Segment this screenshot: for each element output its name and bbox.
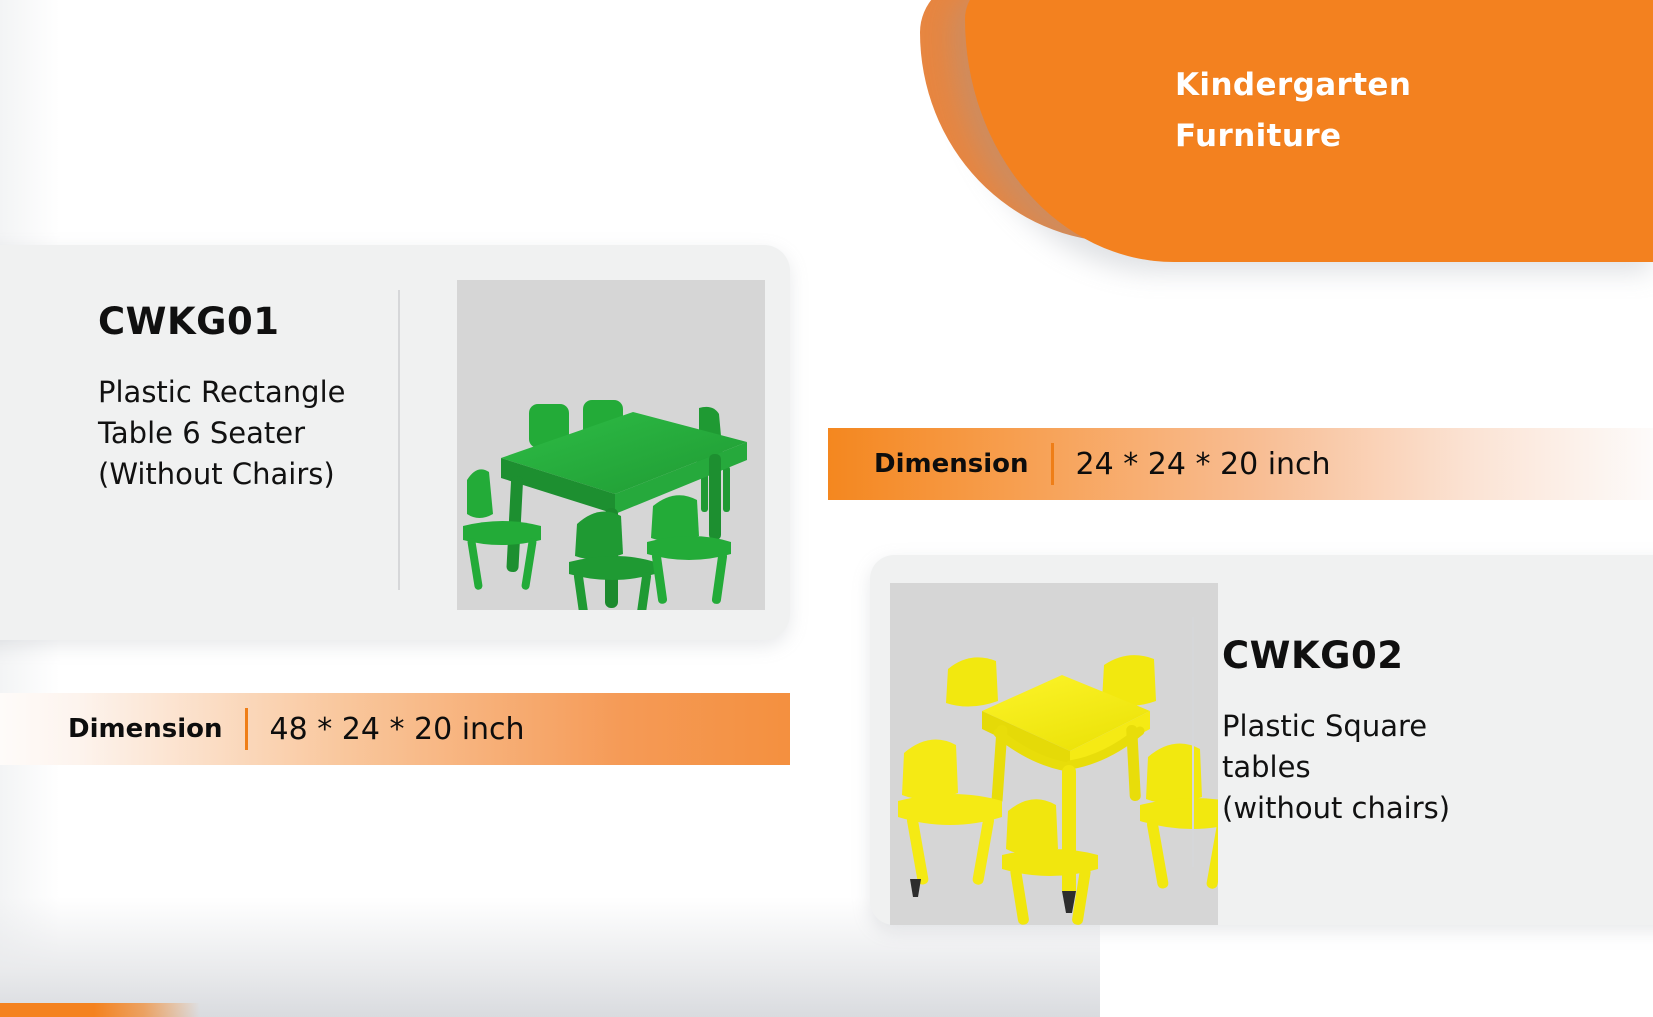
product-card-cwkg01[interactable]: CWKG01 Plastic Rectangle Table 6 Seater … (0, 245, 790, 640)
product-code-cwkg01: CWKG01 (98, 303, 398, 342)
dimension-value-cwkg02: 24 * 24 * 20 inch (1076, 447, 1331, 482)
product-info-cwkg02: CWKG02 Plastic Square tables (without ch… (1222, 637, 1542, 829)
product-description-cwkg02: Plastic Square tables (without chairs) (1222, 706, 1542, 830)
card-divider-cwkg01 (398, 290, 400, 590)
product-card-cwkg02-inner: CWKG02 Plastic Square tables (without ch… (870, 555, 1653, 925)
product-card-cwkg02[interactable]: CWKG02 Plastic Square tables (without ch… (870, 555, 1653, 925)
product-card-cwkg01-inner: CWKG01 Plastic Rectangle Table 6 Seater … (0, 245, 790, 640)
dimension-bar-cwkg02: Dimension 24 * 24 * 20 inch (828, 428, 1653, 500)
dimension-label-cwkg01: Dimension (68, 714, 223, 744)
product-info-cwkg01: CWKG01 Plastic Rectangle Table 6 Seater … (98, 303, 398, 495)
product-photo-cwkg01 (457, 280, 765, 610)
bottom-orange-accent (0, 1003, 200, 1017)
card-divider-cwkg02 (1192, 617, 1194, 867)
catalog-page: Kindergarten Furniture CWKG01 Plastic Re… (0, 0, 1653, 1017)
header-banner: Kindergarten Furniture (905, 0, 1653, 250)
yellow-square-table-illustration (890, 583, 1218, 925)
product-photo-cwkg02 (890, 583, 1218, 925)
dimension-separator-cwkg02 (1051, 443, 1054, 485)
page-title: Kindergarten Furniture (1175, 60, 1575, 162)
dimension-bar-cwkg01: Dimension 48 * 24 * 20 inch (0, 693, 790, 765)
dimension-separator-cwkg01 (245, 708, 248, 750)
dimension-value-cwkg01: 48 * 24 * 20 inch (270, 712, 525, 747)
product-code-cwkg02: CWKG02 (1222, 637, 1542, 676)
dimension-label-cwkg02: Dimension (874, 449, 1029, 479)
product-description-cwkg01: Plastic Rectangle Table 6 Seater (Withou… (98, 372, 398, 496)
green-rectangle-table-illustration (457, 280, 765, 610)
